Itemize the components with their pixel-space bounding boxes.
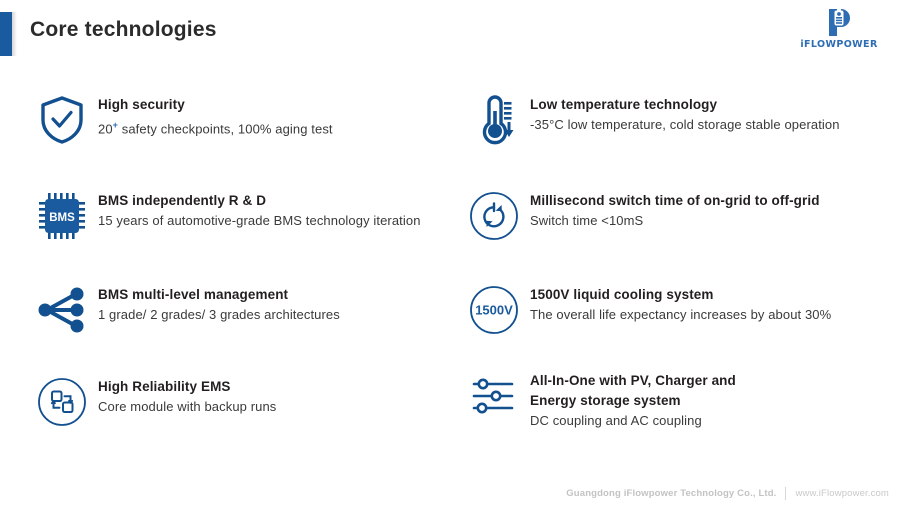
feature-subtitle: The overall life expectancy increases by… bbox=[530, 305, 831, 325]
feature-title: 1500V liquid cooling system bbox=[530, 285, 831, 305]
feature-text: BMS independently R & D 15 years of auto… bbox=[98, 188, 421, 231]
voltage-badge-icon: 1500V bbox=[466, 282, 522, 338]
feature-millisecond-switch: Millisecond switch time of on-grid to of… bbox=[466, 188, 820, 244]
features-grid: High security 20+ safety checkpoints, 10… bbox=[0, 78, 905, 458]
brand-logo: iFLOWPOWER bbox=[791, 6, 887, 58]
shield-check-icon bbox=[34, 92, 90, 148]
feature-subtitle: 1 grade/ 2 grades/ 3 grades architecture… bbox=[98, 305, 340, 325]
feature-text: High security 20+ safety checkpoints, 10… bbox=[98, 92, 333, 139]
feature-subtitle: DC coupling and AC coupling bbox=[530, 411, 736, 431]
feature-all-in-one: All-In-One with PV, Charger and Energy s… bbox=[466, 368, 736, 431]
sliders-icon bbox=[466, 368, 522, 424]
network-nodes-icon bbox=[34, 282, 90, 338]
feature-text: 1500V liquid cooling system The overall … bbox=[530, 282, 831, 325]
title-accent-bar bbox=[0, 12, 12, 56]
svg-text:BMS: BMS bbox=[49, 212, 75, 224]
feature-bms-multilevel: BMS multi-level management 1 grade/ 2 gr… bbox=[34, 282, 340, 338]
voltage-badge-label: 1500V bbox=[475, 303, 513, 318]
brand-logo-text: iFLOWPOWER bbox=[791, 39, 887, 50]
feature-title: Millisecond switch time of on-grid to of… bbox=[530, 191, 820, 211]
footer-website-url[interactable]: www.iFlowpower.com bbox=[795, 488, 889, 499]
feature-high-reliability-ems: High Reliability EMS Core module with ba… bbox=[34, 374, 276, 430]
redundancy-modules-icon bbox=[34, 374, 90, 430]
feature-title: High security bbox=[98, 95, 333, 115]
feature-title: BMS multi-level management bbox=[98, 285, 340, 305]
feature-high-security: High security 20+ safety checkpoints, 10… bbox=[34, 92, 333, 148]
footer-divider bbox=[785, 487, 786, 500]
feature-subtitle: 15 years of automotive-grade BMS technol… bbox=[98, 211, 421, 231]
feature-sub-prefix: 20 bbox=[98, 121, 113, 136]
feature-text: Millisecond switch time of on-grid to of… bbox=[530, 188, 820, 231]
feature-bms-rd: BMS BMS independently R & D 15 years of … bbox=[34, 188, 421, 244]
feature-text: Low temperature technology -35°C low tem… bbox=[530, 92, 840, 135]
feature-subtitle: 20+ safety checkpoints, 100% aging test bbox=[98, 115, 333, 139]
feature-text: High Reliability EMS Core module with ba… bbox=[98, 374, 276, 417]
feature-title: All-In-One with PV, Charger and bbox=[530, 371, 736, 391]
feature-subtitle: -35°C low temperature, cold storage stab… bbox=[530, 115, 840, 135]
feature-subtitle: Core module with backup runs bbox=[98, 397, 276, 417]
page-header: Core technologies iFLOWPOWER bbox=[0, 0, 905, 66]
feature-title-line2: Energy storage system bbox=[530, 391, 736, 411]
feature-title: BMS independently R & D bbox=[98, 191, 421, 211]
page-title: Core technologies bbox=[30, 18, 217, 42]
thermometer-down-icon bbox=[466, 92, 522, 148]
switch-cycle-icon bbox=[466, 188, 522, 244]
feature-title: High Reliability EMS bbox=[98, 377, 276, 397]
feature-title: Low temperature technology bbox=[530, 95, 840, 115]
page-footer: Guangdong iFlowpower Technology Co., Ltd… bbox=[0, 482, 905, 504]
iflowpower-battery-mark-icon bbox=[825, 6, 855, 38]
footer-company-name: Guangdong iFlowpower Technology Co., Ltd… bbox=[566, 488, 776, 499]
feature-sub-rest: safety checkpoints, 100% aging test bbox=[118, 121, 333, 136]
feature-text: BMS multi-level management 1 grade/ 2 gr… bbox=[98, 282, 340, 325]
feature-text: All-In-One with PV, Charger and Energy s… bbox=[530, 368, 736, 431]
bms-chip-icon: BMS bbox=[34, 188, 90, 244]
feature-subtitle: Switch time <10mS bbox=[530, 211, 820, 231]
feature-low-temperature: Low temperature technology -35°C low tem… bbox=[466, 92, 840, 148]
feature-1500v-liquid-cooling: 1500V 1500V liquid cooling system The ov… bbox=[466, 282, 831, 338]
